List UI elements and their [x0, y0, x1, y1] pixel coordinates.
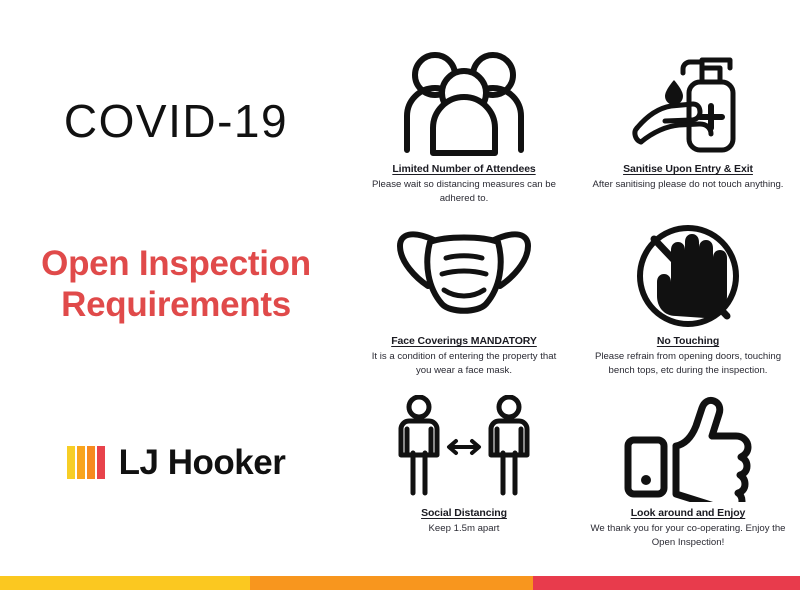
requirement-heading: Social Distancing: [421, 507, 507, 519]
requirement-heading: Look around and Enjoy: [631, 507, 746, 519]
footer-segment-red: [533, 576, 800, 590]
requirement-item: No Touching Please refrain from opening …: [576, 216, 800, 388]
requirement-body: Please refrain from opening doors, touch…: [590, 350, 786, 377]
logo-wordmark: LJ Hooker: [119, 445, 286, 480]
footer-segment-yellow: [0, 576, 250, 590]
requirement-item: Look around and Enjoy We thank you for y…: [576, 388, 800, 560]
requirement-body: Keep 1.5m apart: [429, 522, 500, 536]
logo-bar-1: [67, 446, 75, 479]
requirement-body: After sanitising please do not touch any…: [593, 178, 784, 192]
logo-bar-2: [77, 446, 85, 479]
covid-title: COVID-19: [0, 98, 352, 144]
face-mask-icon: [394, 220, 534, 332]
social-distancing-two-people-icon: [389, 392, 539, 504]
footer-segment-orange: [250, 576, 533, 590]
requirement-body: Please wait so distancing measures can b…: [366, 178, 562, 205]
requirement-item: Face Coverings MANDATORY It is a conditi…: [352, 216, 576, 388]
headline-line-1: Open Inspection: [0, 243, 352, 284]
headline-block: Open Inspection Requirements: [0, 243, 352, 326]
requirement-body: We thank you for your co-operating. Enjo…: [590, 522, 786, 549]
left-panel: COVID-19 Open Inspection Requirements LJ…: [0, 0, 352, 560]
logo-bar-4: [97, 446, 105, 479]
requirement-heading: Face Coverings MANDATORY: [391, 335, 537, 347]
headline-line-2: Requirements: [0, 284, 352, 325]
logo-bar-3: [87, 446, 95, 479]
requirement-item: Limited Number of Attendees Please wait …: [352, 44, 576, 216]
requirement-heading: No Touching: [657, 335, 719, 347]
requirement-item: Social Distancing Keep 1.5m apart: [352, 388, 576, 560]
thumbs-up-phone-icon: [620, 392, 756, 504]
no-touching-hand-icon: [632, 220, 744, 332]
requirement-heading: Limited Number of Attendees: [392, 163, 535, 175]
footer-color-bar: [0, 576, 800, 590]
requirement-heading: Sanitise Upon Entry & Exit: [623, 163, 753, 175]
requirement-item: Sanitise Upon Entry & Exit After sanitis…: [576, 44, 800, 216]
requirements-grid: Limited Number of Attendees Please wait …: [352, 44, 800, 560]
group-of-people-icon: [401, 48, 527, 160]
lj-hooker-logo: LJ Hooker: [0, 445, 352, 480]
logo-bars-icon: [67, 446, 107, 479]
hand-sanitiser-pump-icon: [623, 48, 753, 160]
requirement-body: It is a condition of entering the proper…: [366, 350, 562, 377]
poster-canvas: COVID-19 Open Inspection Requirements LJ…: [0, 0, 800, 600]
